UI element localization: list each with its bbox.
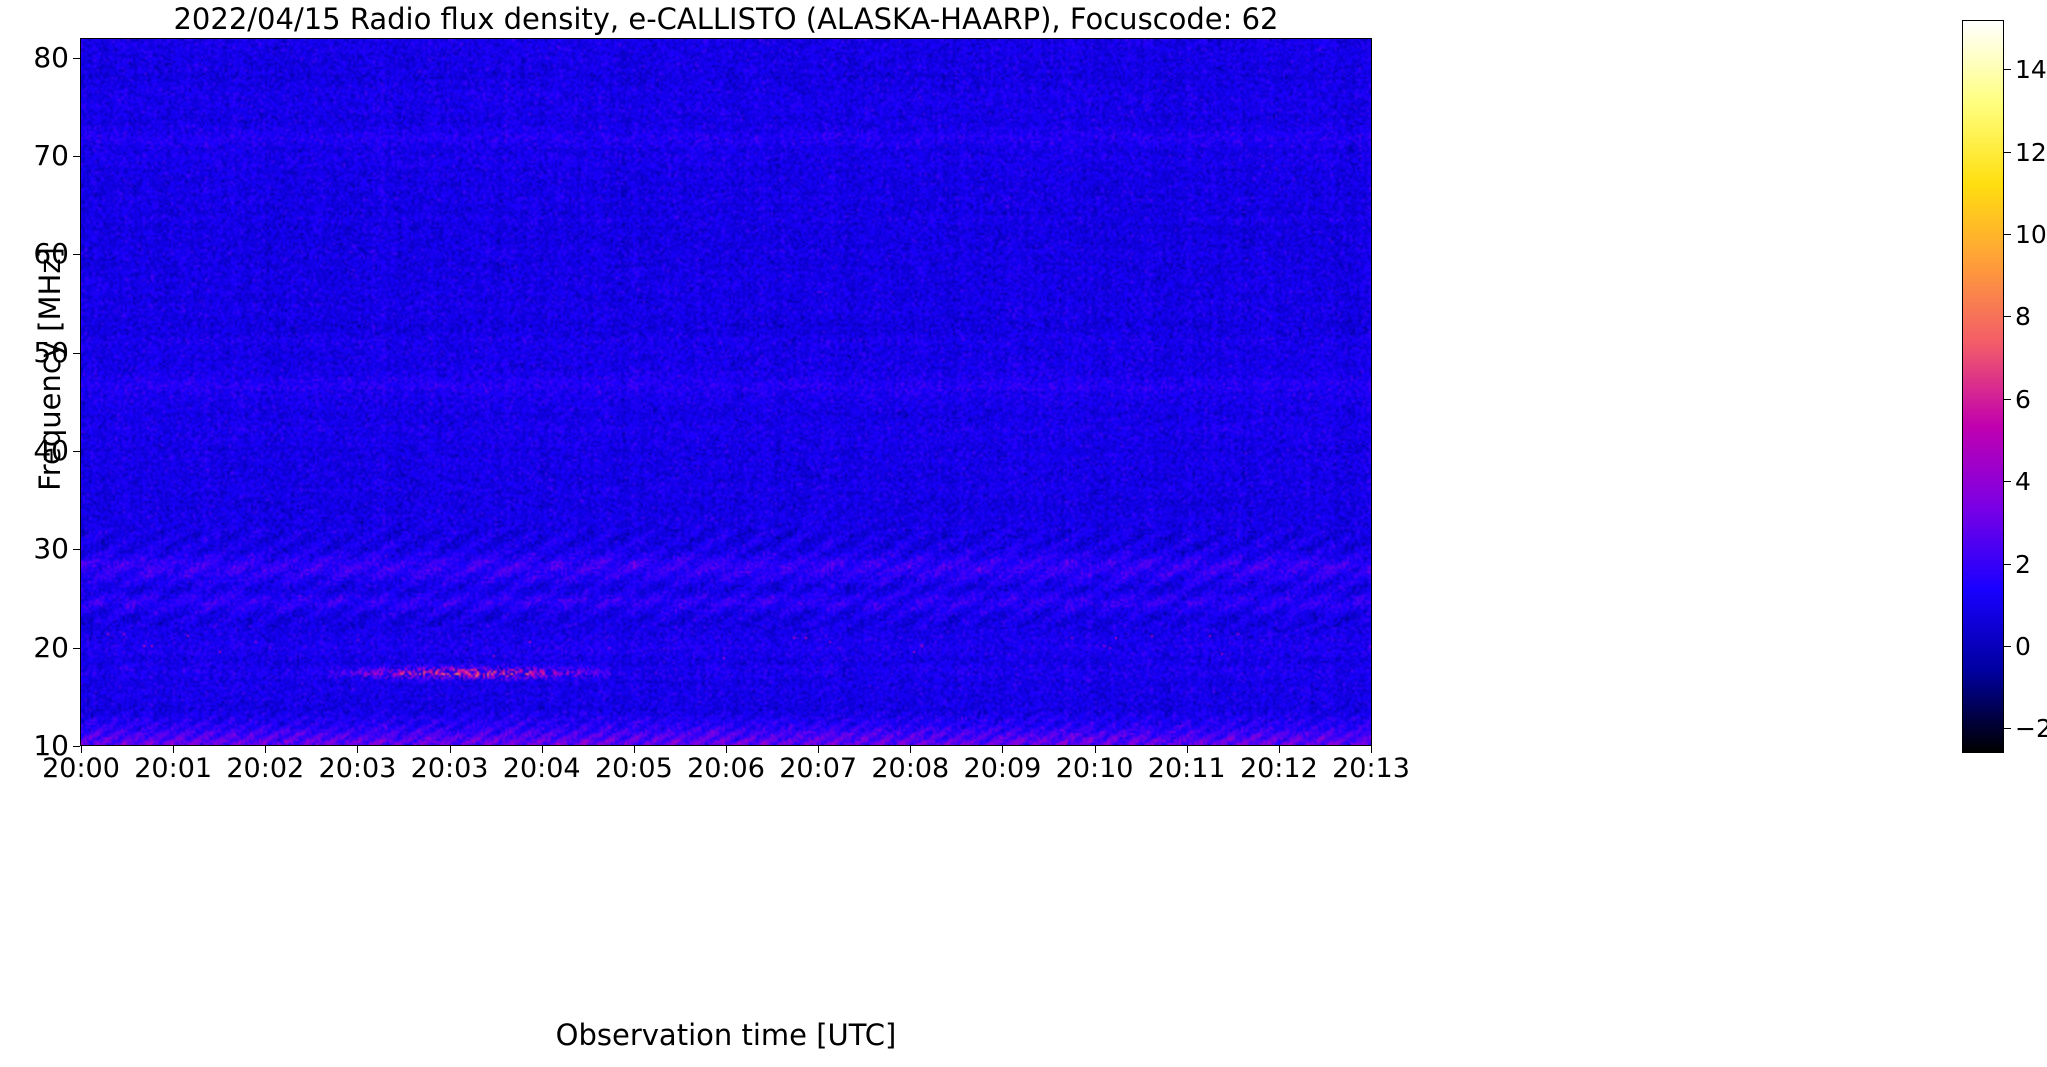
x-tick-label-9: 20:08 bbox=[871, 754, 949, 784]
colorbar-tick-mark bbox=[2004, 316, 2011, 317]
x-tick-mark bbox=[910, 746, 911, 753]
page-title: 2022/04/15 Radio flux density, e-CALLIST… bbox=[80, 2, 1372, 36]
y-tick-mark bbox=[73, 254, 80, 255]
x-tick-label-10: 20:09 bbox=[964, 754, 1042, 784]
y-tick-label-70: 70 bbox=[33, 142, 69, 170]
colorbar-tick-label-14: 14 bbox=[2015, 57, 2047, 82]
x-tick-mark bbox=[265, 746, 266, 753]
x-tick-mark bbox=[450, 746, 451, 753]
x-tick-label-2: 20:02 bbox=[226, 754, 304, 784]
x-tick-mark bbox=[81, 746, 82, 753]
colorbar-tick-label-8: 8 bbox=[2015, 304, 2031, 329]
colorbar-gradient bbox=[1963, 21, 2003, 752]
y-tick-label-80: 80 bbox=[33, 44, 69, 72]
x-tick-label-12: 20:11 bbox=[1148, 754, 1226, 784]
spectrogram-image bbox=[81, 39, 1371, 745]
y-tick-mark bbox=[73, 549, 80, 550]
x-tick-label-4: 20:03 bbox=[411, 754, 489, 784]
x-tick-mark bbox=[1095, 746, 1096, 753]
x-tick-mark bbox=[1279, 746, 1280, 753]
spectrogram-axes bbox=[80, 38, 1372, 746]
colorbar-tick-mark bbox=[2004, 564, 2011, 565]
colorbar-tick-mark bbox=[2004, 646, 2011, 647]
figure-canvas: 2022/04/15 Radio flux density, e-CALLIST… bbox=[0, 0, 2047, 1067]
x-tick-mark bbox=[173, 746, 174, 753]
y-tick-mark bbox=[73, 58, 80, 59]
x-tick-mark bbox=[1002, 746, 1003, 753]
x-tick-mark bbox=[726, 746, 727, 753]
colorbar-tick-label-2: 2 bbox=[2015, 552, 2031, 577]
x-tick-label-0: 20:00 bbox=[42, 754, 120, 784]
x-axis-label: Observation time [UTC] bbox=[80, 1018, 1372, 1052]
y-tick-mark bbox=[73, 353, 80, 354]
colorbar-tick-label-0: 0 bbox=[2015, 634, 2031, 659]
y-tick-mark bbox=[73, 156, 80, 157]
y-tick-label-50: 50 bbox=[33, 339, 69, 367]
x-tick-label-1: 20:01 bbox=[134, 754, 212, 784]
x-tick-label-6: 20:05 bbox=[595, 754, 673, 784]
colorbar-tick-label--2: −2 bbox=[2015, 716, 2047, 741]
x-tick-label-7: 20:06 bbox=[687, 754, 765, 784]
y-tick-mark bbox=[73, 451, 80, 452]
x-tick-mark bbox=[1371, 746, 1372, 753]
y-tick-mark bbox=[73, 746, 80, 747]
colorbar-tick-mark bbox=[2004, 152, 2011, 153]
x-tick-mark bbox=[1187, 746, 1188, 753]
colorbar-tick-mark bbox=[2004, 728, 2011, 729]
y-tick-label-20: 20 bbox=[33, 634, 69, 662]
x-tick-mark bbox=[542, 746, 543, 753]
colorbar-tick-mark bbox=[2004, 481, 2011, 482]
x-tick-label-3: 20:03 bbox=[319, 754, 397, 784]
y-tick-label-30: 30 bbox=[33, 535, 69, 563]
colorbar-tick-mark bbox=[2004, 234, 2011, 235]
x-tick-label-14: 20:13 bbox=[1332, 754, 1410, 784]
y-tick-label-60: 60 bbox=[33, 240, 69, 268]
x-tick-mark bbox=[818, 746, 819, 753]
x-tick-label-11: 20:10 bbox=[1056, 754, 1134, 784]
x-tick-label-13: 20:12 bbox=[1240, 754, 1318, 784]
x-tick-label-8: 20:07 bbox=[779, 754, 857, 784]
x-tick-mark bbox=[634, 746, 635, 753]
x-tick-mark bbox=[357, 746, 358, 753]
colorbar bbox=[1962, 20, 2004, 753]
y-tick-mark bbox=[73, 648, 80, 649]
colorbar-tick-mark bbox=[2004, 69, 2011, 70]
y-axis-label: Frequency [MHz] bbox=[33, 9, 67, 729]
x-tick-label-5: 20:04 bbox=[503, 754, 581, 784]
colorbar-tick-label-10: 10 bbox=[2015, 222, 2047, 247]
colorbar-tick-label-4: 4 bbox=[2015, 469, 2031, 494]
colorbar-tick-label-6: 6 bbox=[2015, 387, 2031, 412]
colorbar-tick-mark bbox=[2004, 399, 2011, 400]
y-tick-label-40: 40 bbox=[33, 437, 69, 465]
colorbar-tick-label-12: 12 bbox=[2015, 140, 2047, 165]
